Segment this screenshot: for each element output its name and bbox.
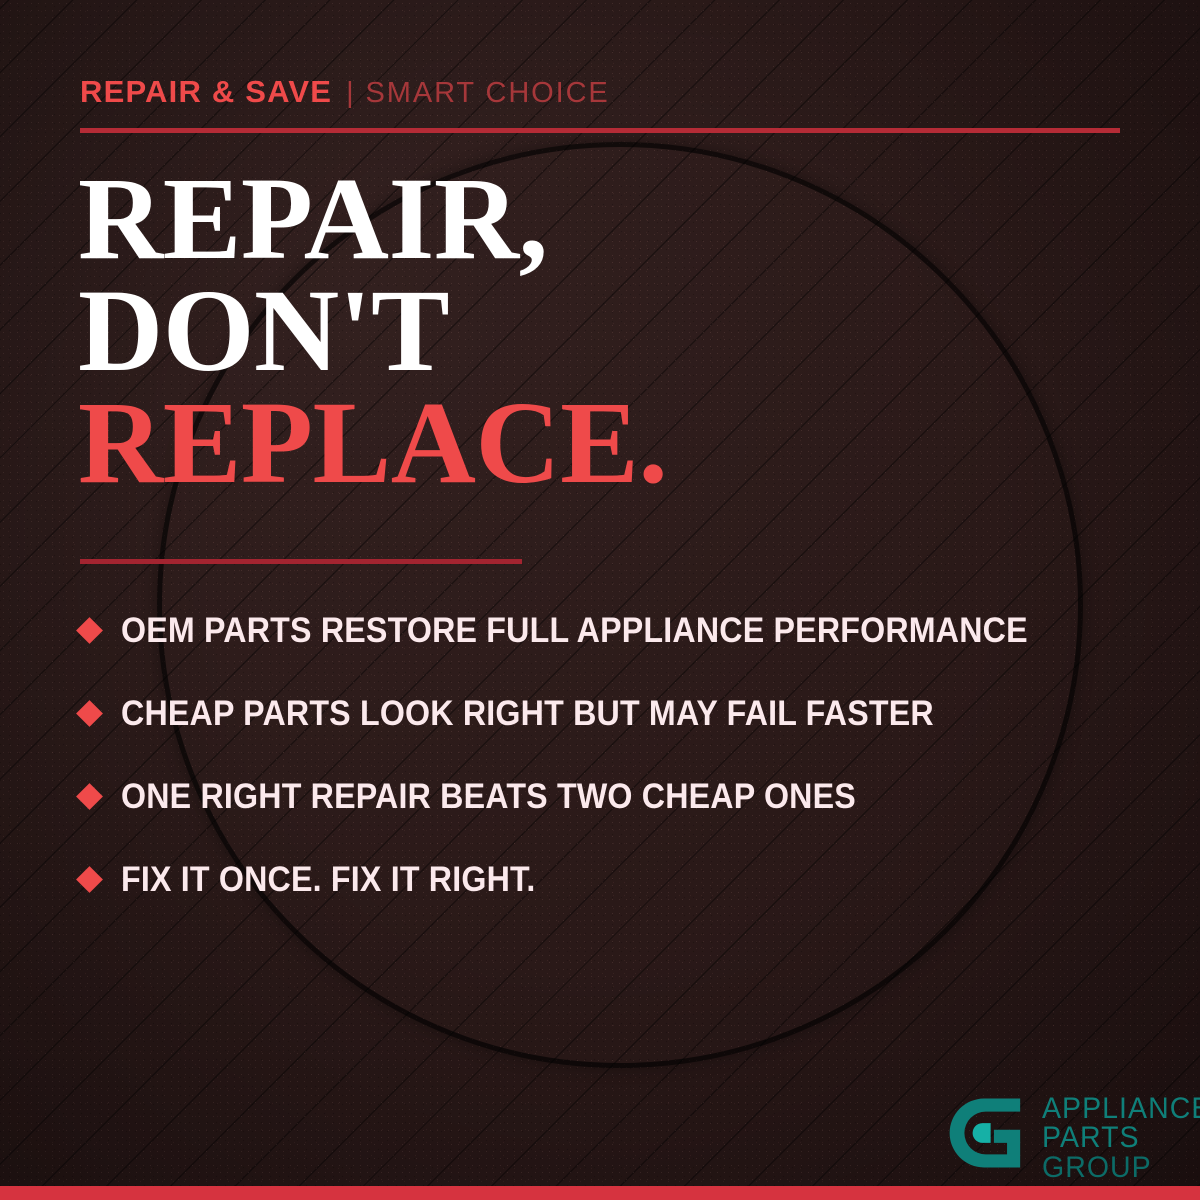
bottom-accent-bar (0, 1186, 1200, 1200)
bullet-text: CHEAP PARTS LOOK RIGHT BUT MAY FAIL FAST… (121, 694, 934, 734)
poster-content: REPAIR & SAVE | SMART CHOICE REPAIR, DON… (0, 0, 1200, 1200)
headline-line-2: DON'T (78, 275, 667, 387)
list-item: FIX IT ONCE. FIX IT RIGHT. (80, 838, 1150, 921)
logo-line-parts: PARTS (1042, 1123, 1200, 1152)
logo-line-appliance: APPLIANCE (1042, 1094, 1200, 1123)
bullet-text: ONE RIGHT REPAIR BEATS TWO CHEAP ONES (121, 777, 856, 817)
headline: REPAIR, DON'T REPLACE. (78, 163, 667, 499)
bullet-text: OEM PARTS RESTORE FULL APPLIANCE PERFORM… (121, 611, 1028, 651)
eyebrow-sub-text: | SMART CHOICE (346, 79, 610, 108)
eyebrow-header: REPAIR & SAVE | SMART CHOICE (80, 76, 610, 108)
bullet-text: FIX IT ONCE. FIX IT RIGHT. (121, 860, 535, 900)
diamond-bullet-icon (76, 783, 103, 810)
diamond-bullet-icon (76, 617, 103, 644)
letter-g-mark-icon (948, 1092, 1030, 1174)
brand-logo: APPLIANCE PARTS GROUP (948, 1092, 1200, 1182)
eyebrow-strong-text: REPAIR & SAVE (80, 76, 332, 107)
diamond-bullet-icon (76, 866, 103, 893)
logo-line-group: GROUP (1042, 1153, 1200, 1182)
list-item: ONE RIGHT REPAIR BEATS TWO CHEAP ONES (80, 755, 1150, 838)
headline-line-3: REPLACE. (78, 387, 667, 499)
bullet-list: OEM PARTS RESTORE FULL APPLIANCE PERFORM… (80, 589, 1150, 921)
list-item: CHEAP PARTS LOOK RIGHT BUT MAY FAIL FAST… (80, 672, 1150, 755)
header-rule (80, 128, 1120, 133)
diamond-bullet-icon (76, 700, 103, 727)
poster-canvas: REPAIR & SAVE | SMART CHOICE REPAIR, DON… (0, 0, 1200, 1200)
list-item: OEM PARTS RESTORE FULL APPLIANCE PERFORM… (80, 589, 1150, 672)
headline-line-1: REPAIR, (78, 163, 667, 275)
headline-divider (80, 559, 522, 564)
brand-logo-wordmark: APPLIANCE PARTS GROUP (1042, 1092, 1200, 1182)
